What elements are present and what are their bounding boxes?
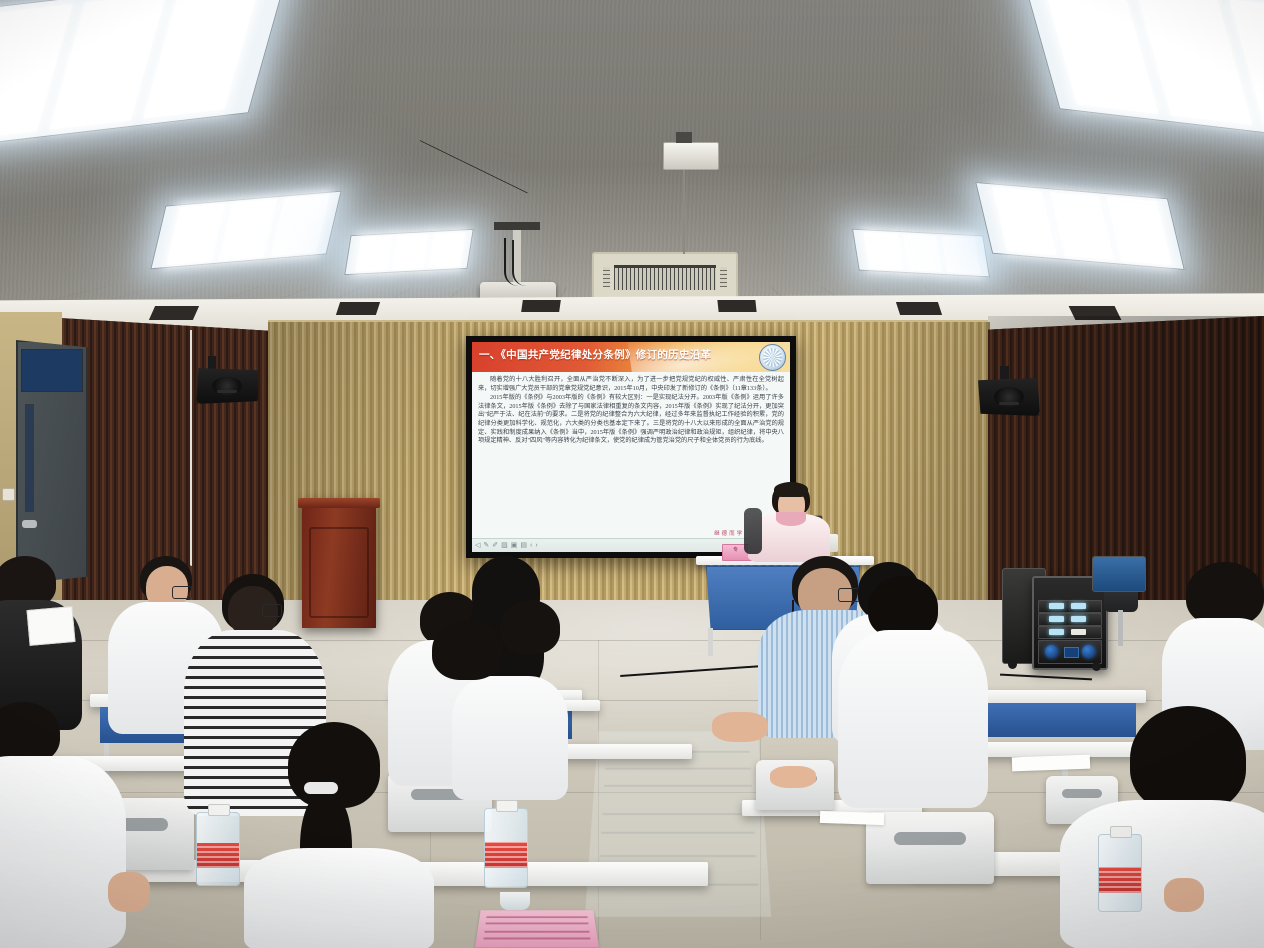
desk-row3-center [408,862,708,886]
vent-side-right [720,267,727,286]
attendee-14-hand [1164,878,1204,912]
projector-mount-plate [494,222,540,230]
pen-icon[interactable]: ✎ [483,541,489,550]
lectern-top [298,498,380,508]
attendee-12-torso [838,630,988,808]
slide-floor-reflection [585,731,771,916]
attendee-9-hair [500,600,560,654]
attendee-7-torso [452,676,568,800]
power-amplifier [1038,640,1101,664]
slide-paragraph-2: 2015年版的《条例》与2003年版的《条例》有较大区别：一是实现纪法分开。20… [478,394,784,446]
attendee-8-hair [432,620,502,680]
highlighter-icon[interactable]: ✐ [492,541,498,550]
speaker-bracket-right [1000,366,1009,379]
soffit-block-1 [149,306,199,320]
rack-caster-left [1008,660,1017,669]
slide-paragraph-1: 随着党的十八大胜利召开，全面从严治党不断深入，为了进一步把党规党纪的权威性、严肃… [478,376,784,393]
chair-handle-slot [894,832,966,845]
soffit-block-5 [896,302,942,315]
blue-equipment-box [1092,556,1146,592]
wall-light-switch[interactable] [2,488,15,501]
pink-feedback-form[interactable] [475,910,599,947]
form-line-3 [485,931,590,932]
reflection-line-2 [605,768,750,770]
chair-right-1[interactable] [866,812,994,884]
bottle-label-texture-3 [1099,867,1141,893]
wireless-receiver-3 [1038,626,1101,639]
prev-icon[interactable]: ‹ [530,541,532,550]
bottle-label-texture-2 [485,842,527,869]
attendee-10-glasses [838,588,860,602]
lectern-panel [309,527,368,618]
hang-bracket [676,132,692,143]
soffit-block-3 [521,300,561,312]
slide-body: 随着党的十八大胜利召开，全面从严治党不断深入，为了进一步把党规党纪的权威性、严肃… [478,376,784,532]
slide-title-text: 一、《中国共产党纪律处分条例》修订的历史沿革 [479,345,756,367]
attendee-5-hairtie [304,782,338,794]
bottle-label-texture-1 [197,843,239,867]
presenter-fringe [774,482,808,497]
soffit-block-6 [1069,306,1122,320]
receiver-display-3b [1071,629,1086,635]
form-line-2 [486,923,589,924]
wireless-receiver-1 [1038,600,1101,613]
presenter-collar [776,512,806,526]
wall-speaker-left [196,368,258,404]
vent-grill [614,265,716,290]
presenter-table-leg-left [708,628,713,656]
vent-side-left [603,267,610,286]
bottle-cap-3 [1110,826,1132,838]
institution-emblem-icon [759,344,786,371]
presenter-toolbar-icons[interactable]: ◁ ✎ ✐ ▨ ▣ ▤ ‹ › [475,541,538,550]
form-line-4 [484,938,591,939]
menu-icon[interactable]: ▤ [520,541,527,550]
wooden-lectern [302,498,376,628]
reflection-line-4 [602,813,753,815]
wireless-receiver-2 [1038,613,1101,626]
door-vision-panel [25,404,34,512]
attendee-2-hand [108,872,150,912]
door-handle[interactable] [22,520,37,528]
speaker-bracket-left [208,356,216,370]
receiver-display-2b [1071,616,1086,622]
bottle-cap-1 [208,804,230,816]
attendee-hand-on-desk [770,766,816,788]
slide-title-banner: 一、《中国共产党纪律处分条例》修订的历史沿革 [472,342,790,372]
attendee-5-torso [244,848,434,948]
attendee-14-hair [1130,706,1246,812]
water-bottle-3[interactable] [1098,834,1142,912]
next-icon[interactable]: › [535,541,537,550]
soffit-block-4 [717,300,756,312]
wall-cable-left [190,330,192,566]
speaker-tweeter-right [999,402,1019,405]
receiver-display-2a [1049,616,1064,622]
slideshow-icon[interactable]: ▣ [511,541,518,550]
amp-knob-right[interactable] [1082,645,1095,658]
attendee-13-hair [1186,562,1264,626]
receiver-display-3a [1049,629,1064,635]
pointer-icon[interactable]: ◁ [475,541,480,550]
water-bottle-2[interactable] [484,808,528,888]
projection-screen: 一、《中国共产党纪律处分条例》修订的历史沿革 随着党的十八大胜利召开，全面从严治… [472,342,790,552]
desk-row1-right-panel [966,703,1136,737]
glass-cup[interactable] [500,892,530,910]
water-bottle-1[interactable] [196,812,240,886]
bottle-cap-2 [496,800,518,812]
eraser-icon[interactable]: ▨ [501,541,508,550]
handout-2[interactable] [820,811,884,825]
door-transom-window [21,349,84,392]
wall-speaker-right [978,378,1040,416]
presenter-chair [744,508,762,554]
handout-1[interactable] [1012,755,1090,772]
projector-cable-2 [512,240,532,286]
ceiling-air-vent [592,252,738,300]
amp-knob-left[interactable] [1045,645,1058,658]
attendee-9-arm [712,712,768,742]
classroom-door[interactable] [16,340,88,584]
troffer-3 [344,229,474,275]
soffit-block-2 [336,302,380,315]
attendee-14-torso [1060,800,1264,948]
receiver-display-1b [1071,603,1086,609]
ceiling-sensor-box [663,142,719,170]
chair-handle-slot [1062,789,1102,798]
rack-caster-right [1092,662,1101,671]
notebook[interactable] [27,606,76,646]
reflection-line-6 [600,855,756,857]
reflection-line-3 [604,785,752,787]
troffer-4 [852,229,990,278]
attendee-2-torso [0,756,126,948]
side-chair-post [1118,610,1123,646]
attendee-3-glasses [172,586,192,599]
emblem-globe [763,348,782,367]
hang-rod [683,168,685,254]
receiver-display-1a [1049,603,1064,609]
form-line-1 [486,916,587,917]
attendee-12-hair [868,576,938,638]
attendee-4-glasses [262,604,282,617]
reflection-line-5 [601,832,755,834]
speaker-tweeter-left [217,390,237,393]
amp-display [1064,647,1080,658]
classroom-photo: 一、《中国共产党纪律处分条例》修订的历史沿革 随着党的十八大胜利召开，全面从严治… [0,0,1264,948]
